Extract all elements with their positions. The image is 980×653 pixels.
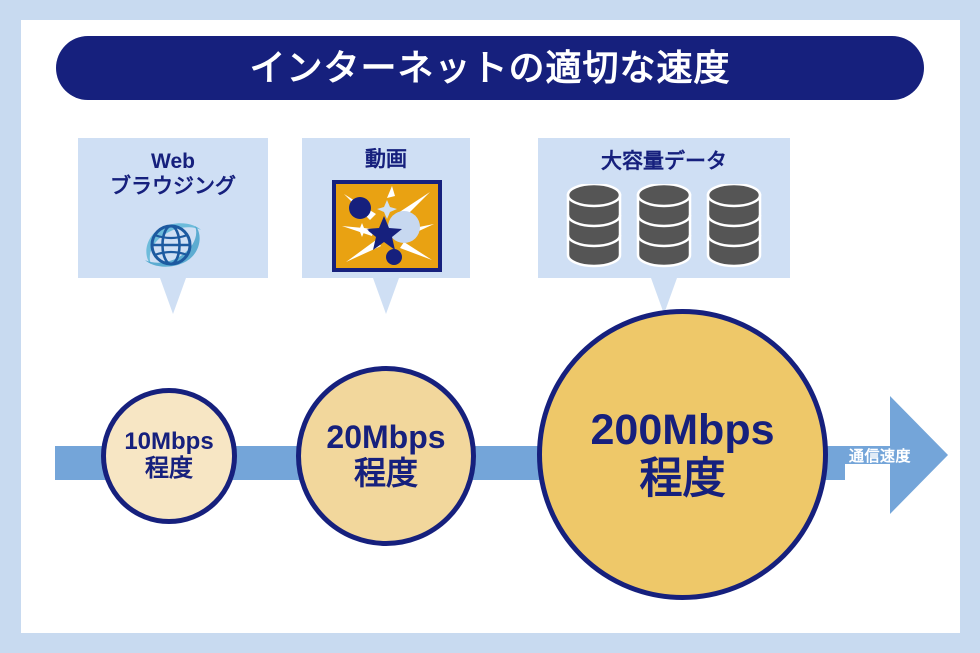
speed-sub-200mbps: 程度 (640, 455, 726, 503)
content-card (21, 20, 960, 633)
callout-web-browsing: Web ブラウジング (78, 138, 268, 278)
callout-tail-video (373, 278, 399, 314)
speed-value-20mbps: 20Mbps (326, 420, 445, 456)
page-title: インターネットの適切な速度 (56, 36, 924, 100)
video-screen-icon (332, 180, 442, 277)
speed-value-10mbps: 10Mbps (124, 429, 213, 456)
callout-large-data: 大容量データ (538, 138, 790, 278)
database-stack-icon (566, 184, 762, 275)
speed-circle-20mbps: 20Mbps 程度 (296, 366, 476, 546)
arrow-label: 通信速度 (834, 445, 926, 466)
callout-tail-web-browsing (160, 278, 186, 314)
speed-circle-200mbps: 200Mbps 程度 (537, 309, 828, 600)
title-bar: インターネットの適切な速度 (56, 36, 924, 100)
speed-sub-10mbps: 程度 (145, 456, 193, 483)
speed-circle-10mbps: 10Mbps 程度 (101, 388, 237, 524)
speed-sub-20mbps: 程度 (354, 456, 418, 492)
callout-video: 動画 (302, 138, 470, 278)
speed-value-200mbps: 200Mbps (590, 406, 774, 454)
globe-icon (141, 216, 205, 279)
callout-label-large-data: 大容量データ (538, 150, 790, 175)
callout-label-web-browsing: Web ブラウジング (78, 150, 268, 200)
infographic-stage: インターネットの適切な速度 通信速度 Web ブラウジング 動画 (0, 0, 980, 653)
callout-label-video: 動画 (302, 148, 470, 173)
